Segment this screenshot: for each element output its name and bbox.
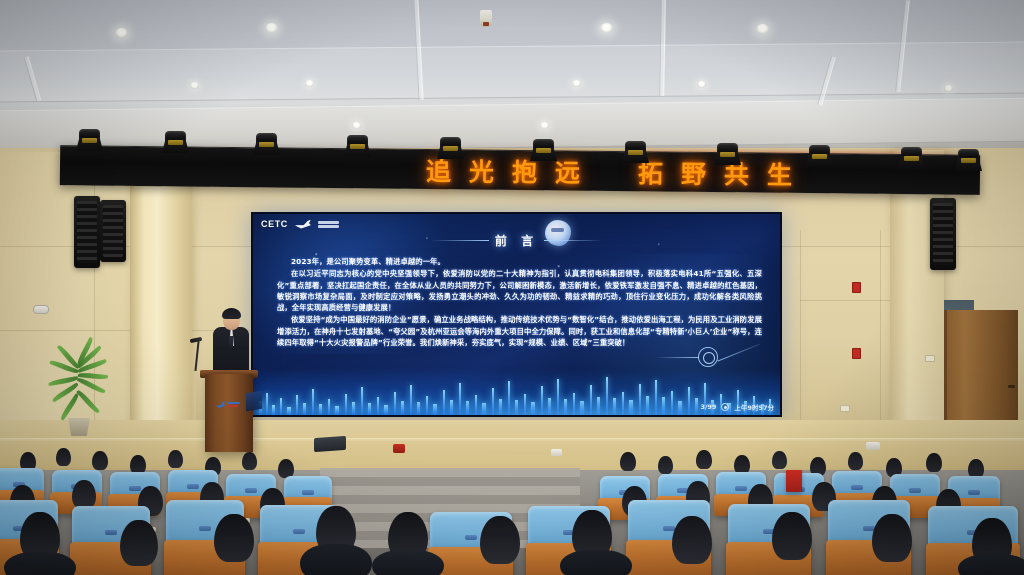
audience-head [658, 456, 673, 474]
downlight [190, 82, 199, 89]
downlight [305, 80, 314, 87]
slide-paragraph: 依爱坚持“成为中国最好的消防企业”愿景，确立业务战略结构，推动传统技术优势与“数… [277, 314, 762, 348]
clock-icon [721, 403, 729, 411]
downlight [944, 85, 953, 92]
audience-head [168, 450, 183, 468]
smoke-detector [33, 305, 49, 314]
downlight [572, 80, 581, 87]
downlight [756, 24, 769, 34]
audience-shoulders [958, 554, 1024, 575]
slide-footer: 3/99 上午9时57分 [700, 402, 774, 412]
audience-shoulders [372, 550, 444, 575]
cetc-logo: CETC [261, 219, 288, 229]
plant-pot [66, 418, 92, 436]
potted-plant [44, 358, 114, 436]
slide-time: 上午9时57分 [734, 402, 774, 412]
stage-light-icon [622, 141, 649, 163]
stage-light-icon [806, 145, 833, 167]
wall-outlet [840, 405, 850, 412]
audience-head [848, 452, 863, 470]
audience-head [620, 452, 636, 471]
slide-title: 前 言 [495, 232, 538, 249]
line-array-speaker [930, 198, 956, 270]
audience-shoulders [4, 552, 76, 575]
downlight [115, 28, 128, 38]
slide-logo-group: CETC [261, 219, 339, 229]
downlight [600, 23, 613, 33]
stage-item-white [551, 449, 562, 456]
rocket-icon [295, 220, 311, 229]
podium-logo-icon [216, 399, 242, 410]
audience-head [772, 451, 787, 469]
stage-item-white [866, 442, 880, 450]
auditorium-scene: 追光抱远 拓野共生 CETC 前 言 2023年，是公司聚势变革、 [0, 0, 1024, 575]
slide-title-row: 前 言 [253, 232, 780, 249]
stage-light-icon [344, 135, 371, 157]
slide-body-text: 2023年，是公司聚势变革、精进卓越的一年。 在以习近平同志为核心的党中央坚强领… [277, 256, 762, 349]
audience-head [480, 516, 520, 564]
audience-head [696, 450, 712, 469]
stage-light-icon [530, 139, 557, 161]
door-handle[interactable] [1008, 385, 1015, 388]
lectern-monitor [246, 391, 262, 412]
wall-panel-seam [0, 330, 250, 331]
wall-outlet [925, 355, 935, 362]
stage-light-icon [437, 137, 464, 159]
stage-item-red [393, 444, 405, 453]
hud-target-icon [698, 347, 718, 367]
audience-head [214, 514, 254, 562]
audience-head [242, 452, 257, 470]
stage-light-icon [162, 131, 189, 153]
slide-paragraph: 在以习近平同志为核心的党中央坚强领导下，依爱消防以党的二十大精神为指引，认真贯彻… [277, 268, 762, 313]
audience-head [926, 453, 942, 472]
audience-head [56, 448, 71, 466]
podium [205, 374, 253, 452]
speaker-hair [222, 308, 241, 319]
line-array-speaker [74, 196, 100, 268]
sprinkler-head [480, 10, 492, 27]
audience-head [872, 514, 912, 562]
downlight [540, 122, 549, 129]
stage-light-icon [898, 147, 925, 169]
audience-head [72, 480, 96, 509]
title-rule-right [544, 240, 602, 241]
stage-light-icon [76, 129, 103, 151]
fire-alarm-box[interactable] [852, 348, 861, 359]
audience-head [772, 512, 812, 560]
ceiling [0, 0, 1024, 152]
slide-paragraph: 2023年，是公司聚势变革、精进卓越的一年。 [277, 256, 762, 267]
fire-alarm-box[interactable] [852, 282, 861, 293]
projection-screen: CETC 前 言 2023年，是公司聚势变革、精进卓越的一年。 在以习近平同志为… [251, 212, 782, 417]
audience-head [120, 520, 158, 566]
company-logo-icon [318, 221, 339, 228]
stage-light-icon [955, 149, 982, 171]
stage-light-icon [714, 143, 741, 165]
title-rule-left [431, 240, 489, 241]
line-array-speaker [100, 200, 126, 262]
ceiling-band-upper [0, 41, 1024, 103]
speaker-tie [229, 336, 233, 348]
red-booklet[interactable] [786, 470, 802, 492]
stage-monitor-speaker [314, 436, 346, 452]
audience-shoulders [300, 544, 372, 575]
audience-head [672, 516, 712, 564]
downlight [697, 81, 706, 88]
downlight [352, 122, 361, 129]
audience-head [92, 451, 108, 470]
downlight [265, 23, 278, 33]
stage-light-icon [253, 133, 280, 155]
slide-page-number: 3/99 [700, 403, 716, 411]
audience-shoulders [560, 550, 632, 575]
